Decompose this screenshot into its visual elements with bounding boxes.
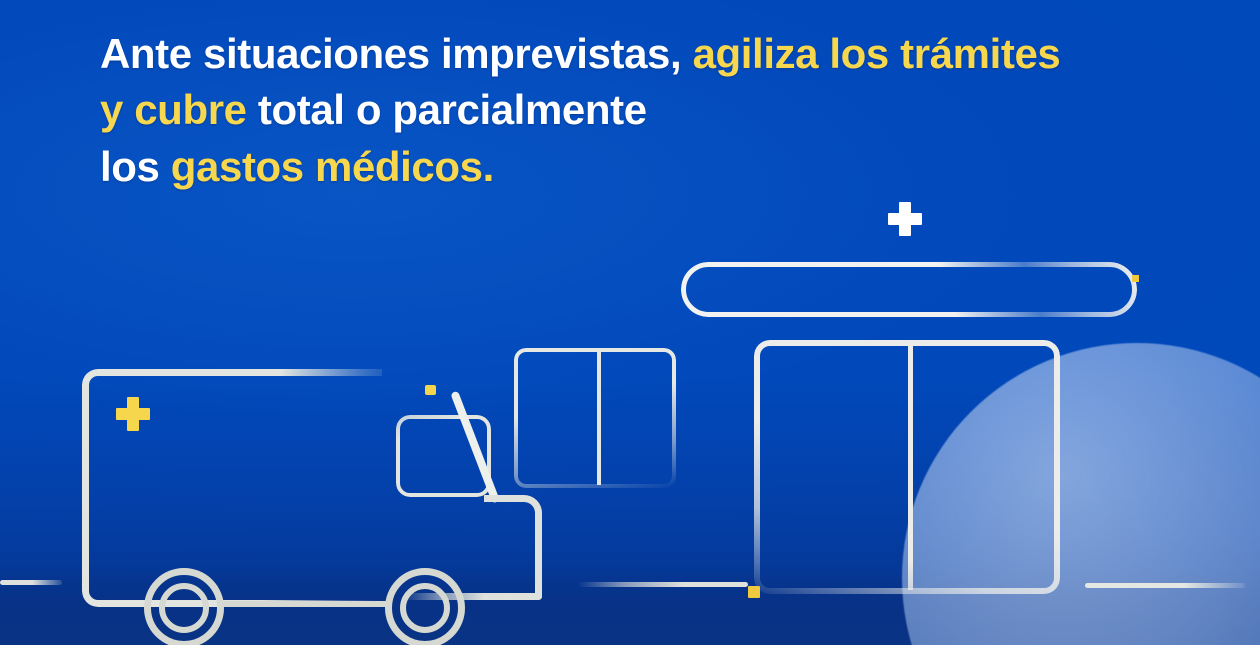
headline-line-1-plain: Ante situaciones imprevistas, bbox=[100, 30, 681, 77]
ground-line-left bbox=[0, 580, 62, 585]
headline-line-3: los gastos médicos. bbox=[100, 139, 1190, 195]
headline: Ante situaciones imprevistas, agiliza lo… bbox=[100, 26, 1190, 195]
ambulance-mirror-icon bbox=[425, 385, 436, 395]
building-large bbox=[754, 340, 1060, 594]
building-large-marker-icon bbox=[748, 586, 760, 598]
ground-line-right bbox=[1085, 583, 1245, 588]
ambulance-wheel-rear bbox=[144, 568, 224, 645]
ambulance-wheel-front bbox=[385, 568, 465, 645]
building-small bbox=[514, 348, 676, 488]
headline-line-1-highlight: agiliza los trámites bbox=[693, 30, 1061, 77]
promo-banner: Ante situaciones imprevistas, agiliza lo… bbox=[0, 0, 1260, 645]
building-small-divider bbox=[597, 352, 601, 485]
headline-line-2: y cubre total o parcialmente bbox=[100, 82, 1190, 138]
headline-line-1: Ante situaciones imprevistas, agiliza lo… bbox=[100, 26, 1190, 82]
sign-bar bbox=[681, 262, 1137, 317]
headline-line-3-highlight: gastos médicos. bbox=[171, 143, 494, 190]
medical-cross-icon bbox=[116, 397, 150, 431]
ambulance-hood bbox=[484, 495, 542, 600]
ambulance-axle bbox=[222, 601, 388, 607]
building-large-divider bbox=[908, 344, 913, 590]
headline-line-3-plain: los bbox=[100, 143, 159, 190]
plus-icon bbox=[888, 202, 922, 236]
ground-line-mid bbox=[578, 582, 748, 587]
headline-line-2-highlight: y cubre bbox=[100, 86, 247, 133]
sign-bar-marker-icon bbox=[1132, 275, 1139, 282]
headline-line-2-plain: total o parcialmente bbox=[258, 86, 647, 133]
